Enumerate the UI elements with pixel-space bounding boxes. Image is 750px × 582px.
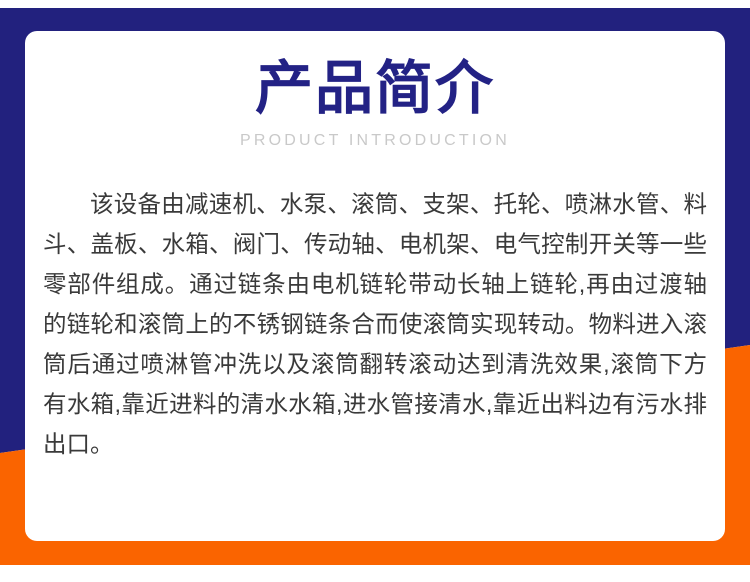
page-subtitle: PRODUCT INTRODUCTION: [25, 132, 725, 150]
heading-block: 产品简介 PRODUCT INTRODUCTION: [25, 31, 725, 150]
introduction-paragraph: 该设备由减速机、水泵、滚筒、支架、托轮、喷淋水管、料斗、盖板、水箱、阀门、传动轴…: [25, 184, 725, 464]
page-title: 产品简介: [25, 59, 725, 120]
product-introduction-banner: 产品简介 PRODUCT INTRODUCTION 该设备由减速机、水泵、滚筒、…: [0, 0, 750, 582]
content-card: 产品简介 PRODUCT INTRODUCTION 该设备由减速机、水泵、滚筒、…: [25, 31, 725, 541]
